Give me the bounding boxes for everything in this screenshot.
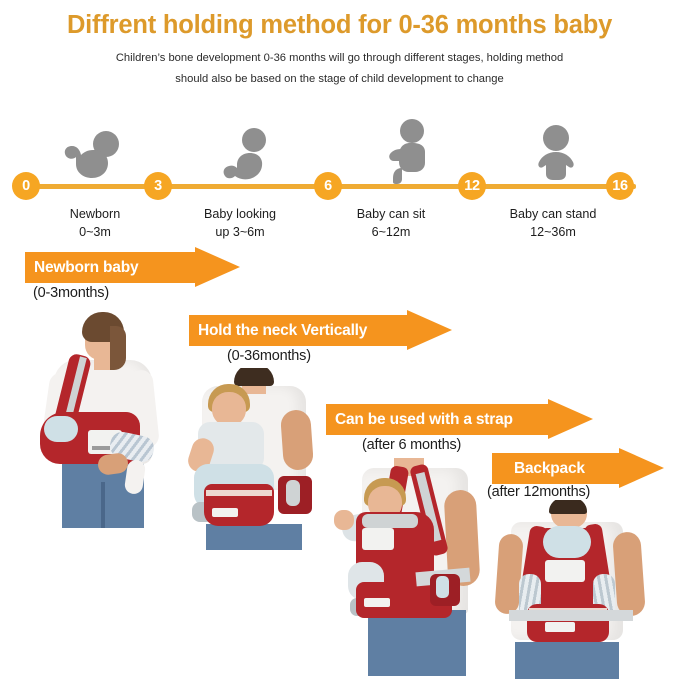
baby-looking-up-icon [220,126,274,180]
photo3-hip-seat-label [364,598,390,607]
banner-backpack[interactable]: Backpack [492,453,664,484]
photo3-carrier-label [362,528,394,550]
subtitle-line-1: Children’s bone development 0-36 months … [0,48,679,69]
timeline-node-16[interactable]: 16 [606,172,634,200]
photo1-mother-hair-strand [110,326,126,370]
banner-label: Newborn baby [34,259,138,277]
banner-hold-neck-vertically-body: Hold the neck Vertically [189,315,407,346]
banner-label: Backpack [514,460,585,478]
timeline-caption-line-1: Newborn [70,207,120,221]
banner-can-be-used-with-strap[interactable]: Can be used with a strap [326,404,593,435]
banner-can-be-used-with-strap-body: Can be used with a strap [326,404,548,435]
photo2-hip-seat-trim [206,490,272,496]
timeline-node-3[interactable]: 3 [144,172,172,200]
timeline-caption-line-1: Baby can stand [510,207,597,221]
timeline-node-0[interactable]: 0 [12,172,40,200]
banner-newborn-baby-sub: (0-3months) [33,285,109,301]
timeline-caption-line-1: Baby looking [204,207,276,221]
baby-standing-icon [530,124,582,180]
timeline-caption-can-sit: Baby can sit 6~12m [326,205,456,241]
timeline-caption-line-2: 6~12m [326,223,456,241]
banner-hold-neck-vertically-sub: (0-36months) [227,348,311,364]
photo1-carrier-logo [92,446,110,450]
banner-arrow-tip [548,399,593,439]
photo-strap-front-carry [328,458,480,679]
photo3-pouch-bottle [436,576,449,598]
banner-backpack-body: Backpack [492,453,619,484]
timeline-node-12[interactable]: 12 [458,172,486,200]
banner-newborn-baby-body: Newborn baby [25,252,195,283]
photo4-baby-head [543,526,591,558]
photo4-waist-belt [509,610,633,621]
photo2-baby-face [212,392,246,426]
newborn-lying-baby-icon [60,128,122,180]
timeline-caption-line-2: 0~3m [30,223,160,241]
timeline-node-6[interactable]: 6 [314,172,342,200]
photo4-hip-seat-label [545,622,575,632]
photo3-baby-hand [334,510,354,530]
subtitle-line-2: should also be based on the stage of chi… [0,69,679,90]
banner-arrow-tip [407,310,452,350]
photo4-father-hair [549,500,587,514]
banner-backpack-sub: (after 12months) [487,484,590,500]
banner-label: Hold the neck Vertically [198,322,367,340]
photo1-jeans-seam [101,482,105,528]
banner-arrow-tip [195,247,240,287]
photo2-pouch-bottle [286,480,300,506]
timeline-caption-line-1: Baby can sit [357,207,426,221]
photo4-father-arm-right [612,531,646,617]
page-subtitle: Children’s bone development 0-36 months … [0,48,679,90]
banner-hold-neck-vertically[interactable]: Hold the neck Vertically [189,315,452,346]
page-title: Diffrent holding method for 0-36 months … [0,11,679,40]
timeline-caption-looking-up: Baby looking up 3~6m [175,205,305,241]
baby-sitting-icon [382,118,432,184]
infographic-page: Diffrent holding method for 0-36 months … [0,0,679,679]
photo2-father-jeans [206,524,302,550]
photo3-father-jeans [368,610,466,676]
photo2-father-head [234,368,274,386]
photo4-father-jeans [515,642,619,679]
photo-backpack-carry [493,500,653,679]
timeline-caption-line-2: 12~36m [483,223,623,241]
photo4-carrier-label [545,560,585,582]
banner-can-be-used-with-strap-sub: (after 6 months) [362,437,461,453]
banner-label: Can be used with a strap [335,411,513,429]
timeline-caption-line-2: up 3~6m [175,223,305,241]
timeline-caption-newborn: Newborn 0~3m [30,205,160,241]
photo1-baby-head-cover [44,416,78,442]
banner-newborn-baby[interactable]: Newborn baby [25,252,240,283]
photo-vertical-hip-seat-carry [186,368,316,550]
timeline-caption-can-stand: Baby can stand 12~36m [483,205,623,241]
photo3-carrier-neck-pad [362,514,418,528]
photo2-father-arm [280,409,314,471]
banner-arrow-tip [619,448,664,488]
photo2-hip-seat-label [212,508,238,517]
development-timeline: 0 3 6 12 16 Newborn 0~3m Baby looking up… [0,108,679,243]
photo-newborn-front-carry [40,312,165,528]
